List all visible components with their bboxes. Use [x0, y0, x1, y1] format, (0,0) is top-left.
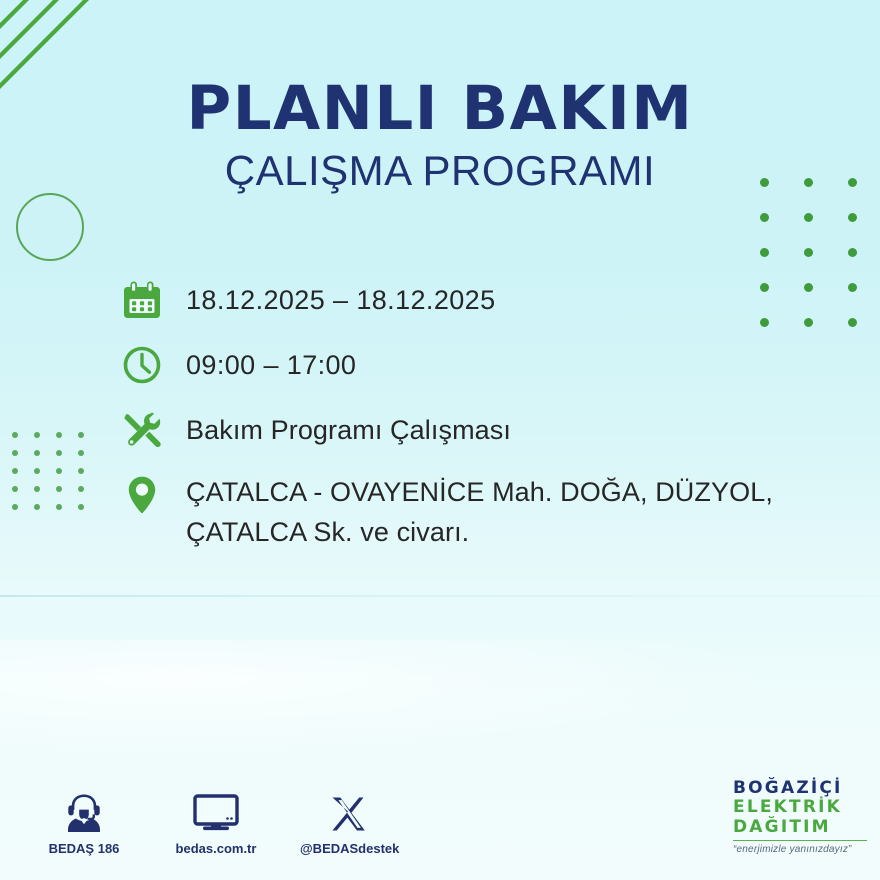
brand-line-dagitim: DAĞITIM [733, 818, 869, 837]
detail-worktype-text: Bakım Programı Çalışması [166, 406, 880, 451]
detail-row-date: 18.12.2025 – 18.12.2025 [118, 276, 880, 324]
contact-call-center-label: BEDAŞ 186 [36, 841, 132, 856]
circle-outline-decoration [16, 193, 84, 261]
contact-website-label: bedas.com.tr [168, 841, 264, 856]
detail-date-text: 18.12.2025 – 18.12.2025 [166, 276, 880, 321]
contact-x-account[interactable]: @BEDASdestek [300, 788, 396, 856]
monitor-icon [168, 788, 264, 834]
brand-line-bogazici: BOĞAZİÇİ [733, 779, 869, 798]
location-pin-icon [118, 471, 166, 519]
poster-header: PLANLI BAKIM ÇALIŞMA PROGRAMI [0, 78, 880, 196]
contact-x-account-label: @BEDASdestek [300, 841, 396, 856]
maintenance-details: 18.12.2025 – 18.12.2025 09:00 – 17:00 [118, 276, 880, 553]
clock-icon [118, 341, 166, 389]
calendar-icon [118, 276, 166, 324]
tools-icon [118, 406, 166, 454]
planned-maintenance-poster: PLANLI BAKIM ÇALIŞMA PROGRAMI [0, 0, 880, 880]
page-subtitle: ÇALIŞMA PROGRAMI [0, 147, 880, 195]
support-agent-icon [36, 788, 132, 834]
brand-divider [733, 840, 867, 841]
x-twitter-icon [300, 788, 396, 834]
detail-address-text: ÇATALCA - OVAYENİCE Mah. DOĞA, DÜZYOL, Ç… [166, 471, 880, 553]
contact-website[interactable]: bedas.com.tr [168, 788, 264, 856]
detail-row-address: ÇATALCA - OVAYENİCE Mah. DOĞA, DÜZYOL, Ç… [118, 471, 880, 553]
contact-call-center[interactable]: BEDAŞ 186 [36, 788, 132, 856]
detail-row-worktype: Bakım Programı Çalışması [118, 406, 880, 454]
band-divider [0, 595, 880, 597]
brand-line-elektrik: ELEKTRİK [733, 798, 869, 817]
brand-logo: BOĞAZİÇİ ELEKTRİK DAĞITIM “enerjimizle y… [733, 779, 869, 855]
dot-grid-left-decoration [12, 432, 100, 522]
detail-time-text: 09:00 – 17:00 [166, 341, 880, 386]
footer-contacts: BEDAŞ 186 bedas.com.tr @BEDASdestek [36, 788, 396, 856]
brand-tagline: “enerjimizle yanınızdayız” [733, 844, 869, 855]
page-title: PLANLI BAKIM [0, 78, 880, 140]
detail-row-time: 09:00 – 17:00 [118, 341, 880, 389]
